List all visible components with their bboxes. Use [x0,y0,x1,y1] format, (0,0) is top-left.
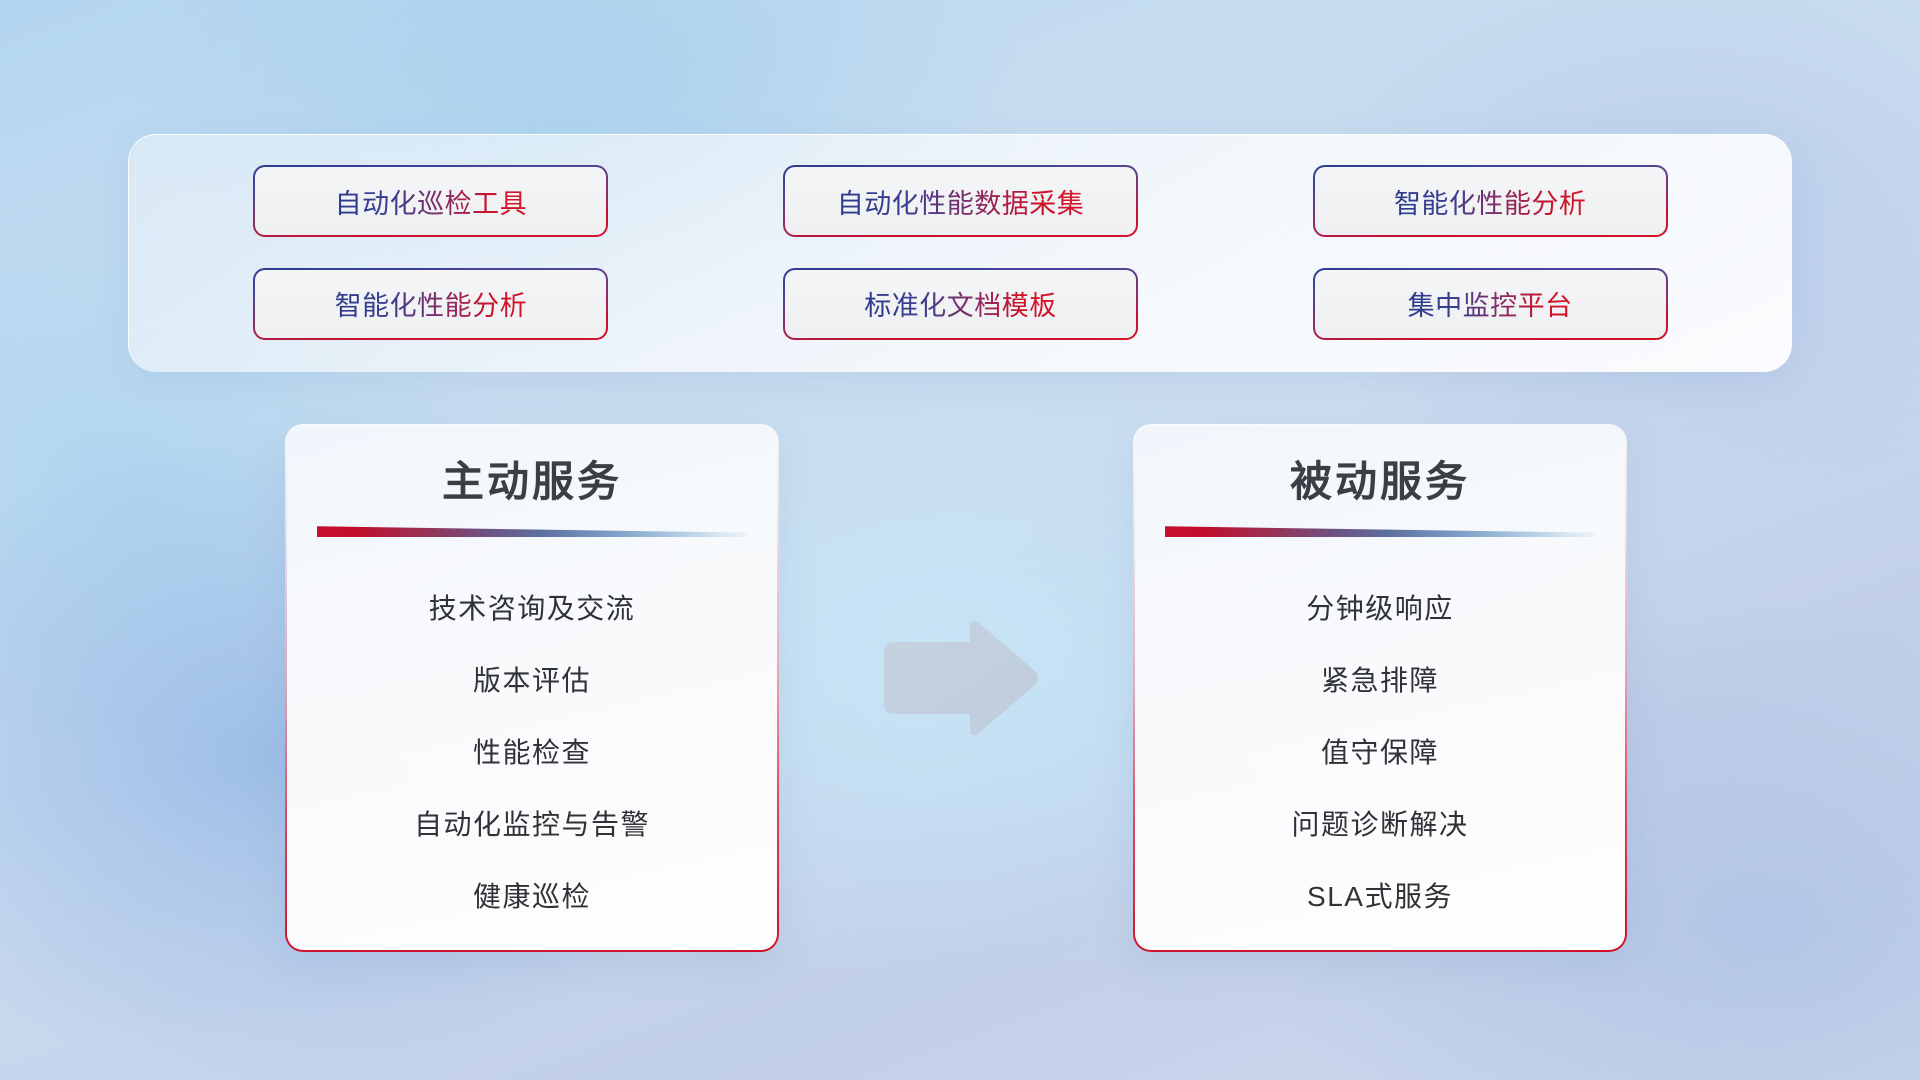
capability-pill[interactable]: 集中监控平台 [1313,268,1668,340]
capability-pill-body: 标准化文档模板 [785,270,1136,338]
capability-pill-label: 标准化文档模板 [864,284,1057,323]
list-item: 问题诊断解决 [1291,789,1468,861]
active-service-card-body: 主动服务 技术咨询及交流 版本评估 性能检查 自动化监控与告警 健康巡检 [287,426,777,950]
capability-pill-label: 自动化巡检工具 [335,182,528,221]
capability-pill-body: 自动化巡检工具 [255,167,606,235]
passive-service-title: 被动服务 [1290,458,1470,506]
passive-service-card[interactable]: 被动服务 分钟级响应 紧急排障 值守保障 问题诊断解决 SLA式服务 [1133,424,1627,952]
capability-pill[interactable]: 自动化性能数据采集 [783,165,1138,237]
capability-pill[interactable]: 智能化性能分析 [253,268,608,340]
capability-pill-label: 智能化性能分析 [335,284,528,323]
flow-arrow-right-icon [874,614,1042,742]
list-item: 紧急排障 [1321,645,1439,717]
list-item: 版本评估 [473,645,591,717]
list-item: 值守保障 [1321,717,1439,789]
capability-pill[interactable]: 自动化巡检工具 [253,165,608,237]
passive-service-divider [1165,526,1595,537]
capability-pill-body: 自动化性能数据采集 [785,167,1136,235]
capability-pill-label: 集中监控平台 [1408,284,1573,323]
active-service-list: 技术咨询及交流 版本评估 性能检查 自动化监控与告警 健康巡检 [287,573,777,933]
capabilities-panel: 自动化巡检工具 自动化性能数据采集 智能化性能分析 智能化性能分析 [128,134,1792,372]
list-item: SLA式服务 [1307,861,1453,933]
list-item: 性能检查 [473,717,591,789]
active-service-title: 主动服务 [442,458,622,506]
active-service-card[interactable]: 主动服务 技术咨询及交流 版本评估 性能检查 自动化监控与告警 健康巡检 [285,424,779,952]
passive-service-card-body: 被动服务 分钟级响应 紧急排障 值守保障 问题诊断解决 SLA式服务 [1135,426,1625,950]
list-item: 自动化监控与告警 [414,789,650,861]
capability-pill-body: 智能化性能分析 [255,270,606,338]
list-item: 健康巡检 [473,861,591,933]
list-item: 技术咨询及交流 [429,573,636,645]
capability-pill-body: 集中监控平台 [1315,270,1666,338]
active-service-divider [317,526,747,537]
capability-pill-body: 智能化性能分析 [1315,167,1666,235]
capability-pill-label: 自动化性能数据采集 [837,182,1085,221]
list-item: 分钟级响应 [1306,573,1454,645]
infographic-canvas: 自动化巡检工具 自动化性能数据采集 智能化性能分析 智能化性能分析 [0,0,1920,1080]
passive-service-list: 分钟级响应 紧急排障 值守保障 问题诊断解决 SLA式服务 [1135,573,1625,933]
capability-pill[interactable]: 标准化文档模板 [783,268,1138,340]
capability-pill-label: 智能化性能分析 [1394,182,1587,221]
capabilities-grid: 自动化巡检工具 自动化性能数据采集 智能化性能分析 智能化性能分析 [129,135,1792,372]
capability-pill[interactable]: 智能化性能分析 [1313,165,1668,237]
